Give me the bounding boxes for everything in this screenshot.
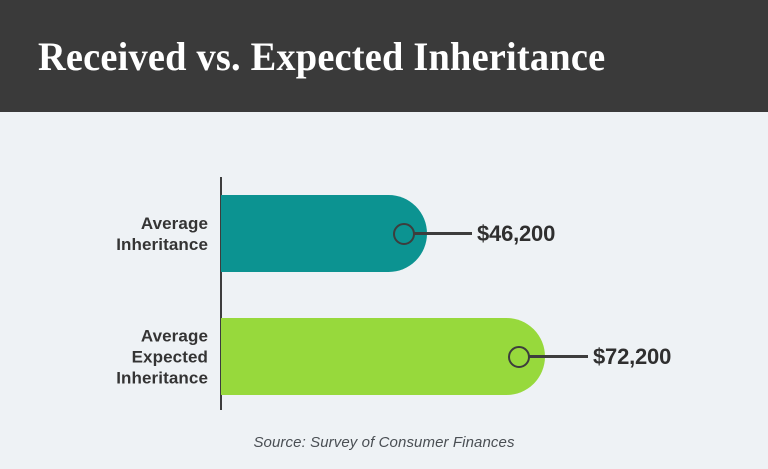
- category-label-line: Average: [0, 325, 208, 346]
- bar-row: Average Inheritance $46,200: [0, 195, 768, 272]
- category-label-line: Expected: [0, 346, 208, 367]
- bar-end-marker-icon: [508, 346, 530, 368]
- bar-chart: Average Inheritance $46,200 Average Expe…: [0, 112, 768, 469]
- bar-row: Average Expected Inheritance $72,200: [0, 318, 768, 395]
- category-label-line: Inheritance: [0, 234, 208, 255]
- leader-line: [529, 355, 588, 358]
- category-label-line: Inheritance: [0, 367, 208, 388]
- source-note: Source: Survey of Consumer Finances: [0, 434, 768, 451]
- value-label-average-expected-inheritance: $72,200: [593, 344, 671, 370]
- category-label-average-expected-inheritance: Average Expected Inheritance: [0, 325, 208, 388]
- infographic-root: Received vs. Expected Inheritance Averag…: [0, 0, 768, 469]
- bar-average-expected-inheritance[interactable]: [221, 318, 545, 395]
- value-label-average-inheritance: $46,200: [477, 221, 555, 247]
- header-bar: Received vs. Expected Inheritance: [0, 0, 768, 112]
- category-label-line: Average: [0, 213, 208, 234]
- leader-line: [414, 232, 472, 235]
- bar-end-marker-icon: [393, 223, 415, 245]
- page-title: Received vs. Expected Inheritance: [38, 33, 605, 80]
- category-label-average-inheritance: Average Inheritance: [0, 213, 208, 255]
